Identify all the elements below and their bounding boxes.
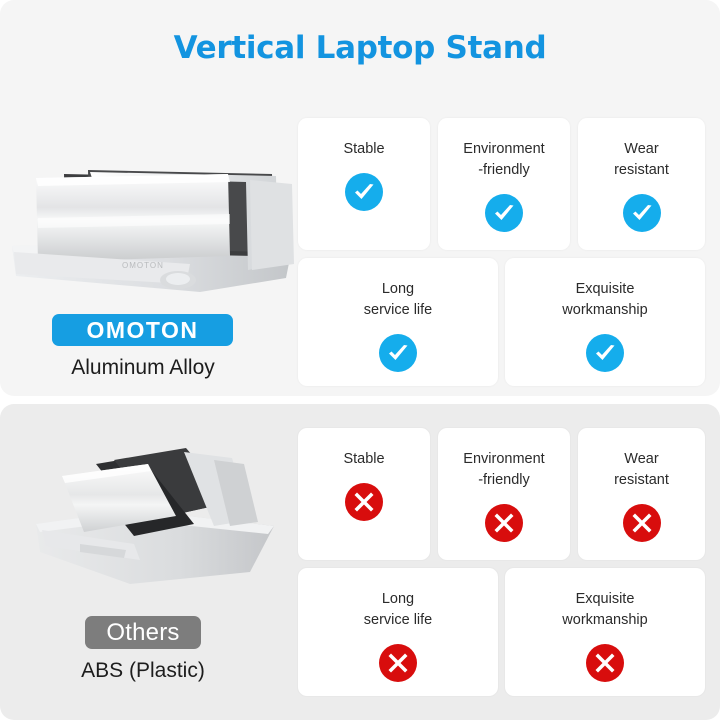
check-icon (485, 194, 523, 232)
feature-label: Stable (343, 449, 384, 470)
cross-icon (623, 504, 661, 542)
check-icon (379, 334, 417, 372)
feature-label: Environment -friendly (463, 139, 544, 181)
feature-card-environment-friendly[interactable]: Environment -friendly (438, 118, 570, 250)
page-title: Vertical Laptop Stand (0, 30, 720, 66)
feature-card-grid-others: Stable Environment -friendly Wear resist… (298, 428, 705, 696)
check-icon (586, 334, 624, 372)
feature-label: Wear resistant (614, 449, 669, 491)
feature-label: Stable (343, 139, 384, 160)
cross-icon (379, 644, 417, 682)
check-icon (345, 173, 383, 211)
product-image-aluminum-stand: OMOTON (4, 152, 296, 304)
cross-icon (586, 644, 624, 682)
material-label-abs: ABS (Plastic) (0, 659, 286, 683)
feature-label: Long service life (364, 279, 433, 321)
feature-card-exquisite-workmanship[interactable]: Exquisite workmanship (505, 258, 705, 386)
comparison-infographic: Vertical Laptop Stand (0, 0, 720, 720)
feature-card-exquisite-workmanship[interactable]: Exquisite workmanship (505, 568, 705, 696)
product-image-plastic-stand (18, 440, 286, 592)
cross-icon (345, 483, 383, 521)
feature-label: Long service life (364, 589, 433, 631)
feature-label: Exquisite workmanship (562, 589, 647, 631)
feature-card-stable[interactable]: Stable (298, 118, 430, 250)
feature-card-wear-resistant[interactable]: Wear resistant (578, 118, 705, 250)
check-icon (623, 194, 661, 232)
material-label-aluminum: Aluminum Alloy (0, 356, 286, 380)
feature-card-wear-resistant[interactable]: Wear resistant (578, 428, 705, 560)
feature-card-long-service-life[interactable]: Long service life (298, 568, 498, 696)
feature-card-environment-friendly[interactable]: Environment -friendly (438, 428, 570, 560)
feature-label: Environment -friendly (463, 449, 544, 491)
feature-card-grid-omoton: Stable Environment -friendly Wear resist… (298, 118, 705, 386)
brand-badge-omoton: OMOTON (52, 314, 233, 346)
feature-label: Wear resistant (614, 139, 669, 181)
svg-text:OMOTON: OMOTON (122, 261, 164, 270)
feature-label: Exquisite workmanship (562, 279, 647, 321)
feature-card-stable[interactable]: Stable (298, 428, 430, 560)
feature-card-long-service-life[interactable]: Long service life (298, 258, 498, 386)
brand-badge-others: Others (85, 616, 201, 649)
cross-icon (485, 504, 523, 542)
